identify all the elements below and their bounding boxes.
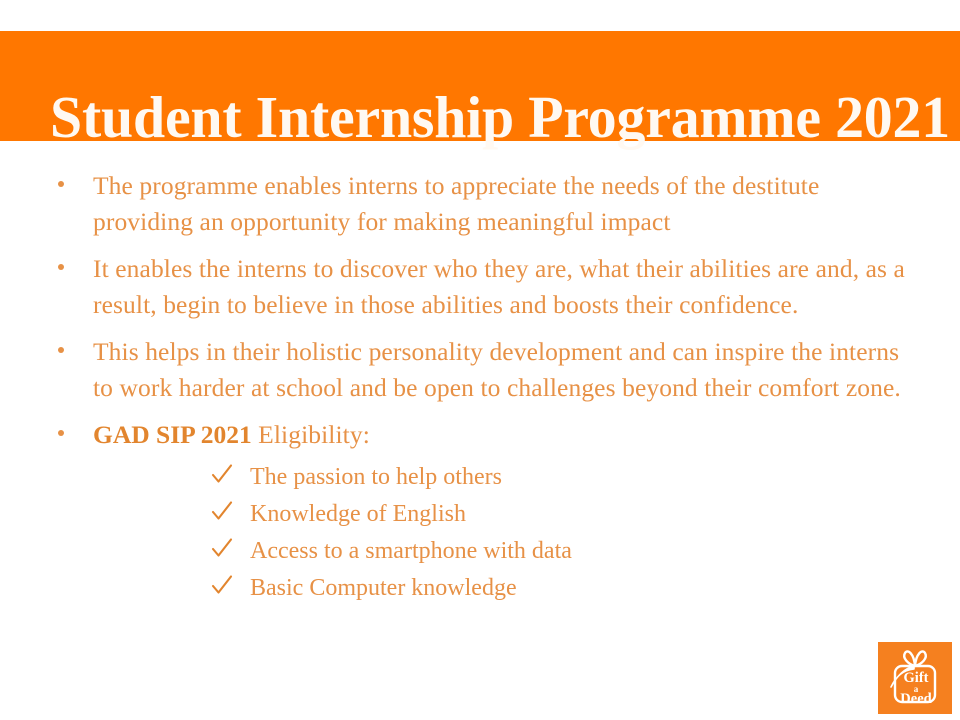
- eligibility-item-label: Knowledge of English: [250, 501, 466, 527]
- eligibility-heading-text: Eligibility:: [252, 420, 370, 449]
- list-item: This helps in their holistic personality…: [0, 334, 960, 406]
- list-item-eligibility: GAD SIP 2021 Eligibility:: [0, 417, 960, 453]
- slide-body: The programme enables interns to appreci…: [0, 168, 960, 612]
- check-mark-icon: [211, 499, 233, 523]
- eligibility-heading-bold: GAD SIP 2021: [93, 420, 252, 449]
- bullet-text: The programme enables interns to appreci…: [93, 171, 819, 236]
- title-banner: Student Internship Programme 2021: [0, 31, 960, 141]
- eligibility-list: The passion to help others Knowledge of …: [0, 464, 960, 601]
- page-title: Student Internship Programme 2021: [50, 81, 903, 153]
- bullet-text: It enables the interns to discover who t…: [93, 254, 905, 319]
- check-mark-icon: [211, 462, 233, 486]
- eligibility-item-label: Basic Computer knowledge: [250, 575, 517, 601]
- bullet-dot-icon: [58, 181, 64, 187]
- gift-a-deed-logo: Gift a Deed: [878, 642, 952, 714]
- bullet-list: The programme enables interns to appreci…: [0, 168, 960, 453]
- bullet-text: This helps in their holistic personality…: [93, 337, 901, 402]
- check-mark-icon: [211, 536, 233, 560]
- list-item: Access to a smartphone with data: [0, 538, 960, 564]
- list-item: The passion to help others: [0, 464, 960, 490]
- slide-canvas: Student Internship Programme 2021 The pr…: [0, 0, 960, 720]
- bullet-dot-icon: [58, 430, 64, 436]
- logo-line-3: Deed: [900, 691, 931, 707]
- eligibility-item-label: The passion to help others: [250, 464, 502, 490]
- eligibility-item-label: Access to a smartphone with data: [250, 538, 572, 564]
- list-item: Knowledge of English: [0, 501, 960, 527]
- list-item: It enables the interns to discover who t…: [0, 251, 960, 323]
- list-item: Basic Computer knowledge: [0, 575, 960, 601]
- bullet-dot-icon: [58, 347, 64, 353]
- bullet-dot-icon: [58, 264, 64, 270]
- list-item: The programme enables interns to appreci…: [0, 168, 960, 240]
- check-mark-icon: [211, 573, 233, 597]
